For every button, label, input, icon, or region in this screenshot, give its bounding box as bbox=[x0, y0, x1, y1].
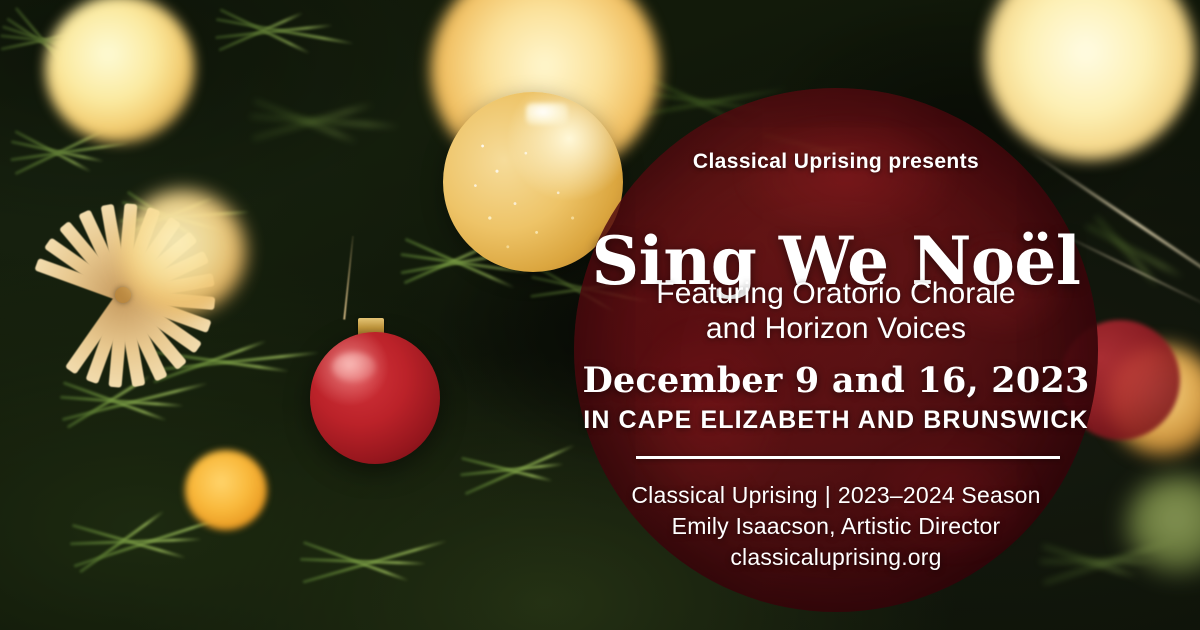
poster-content: Classical Uprising presents Sing We Noël… bbox=[574, 88, 1098, 612]
footer-org-season: Classical Uprising|2023–2024 Season bbox=[574, 480, 1098, 511]
footer-season: 2023–2024 Season bbox=[838, 482, 1041, 508]
footer-director: Emily Isaacson, Artistic Director bbox=[574, 511, 1098, 542]
bokeh-light-topleft bbox=[45, 0, 195, 143]
bokeh-light-left-mid bbox=[120, 190, 246, 314]
red-ornament-highlight bbox=[332, 352, 376, 382]
amber-bokeh-ornament bbox=[185, 450, 267, 530]
red-ornament bbox=[310, 332, 440, 464]
footer-separator: | bbox=[818, 482, 838, 508]
presenter-line: Classical Uprising presents bbox=[574, 150, 1098, 174]
featuring-line-2: and Horizon Voices bbox=[574, 311, 1098, 346]
promotional-poster: Classical Uprising presents Sing We Noël… bbox=[0, 0, 1200, 630]
featuring-lines: Featuring Oratorio Chorale and Horizon V… bbox=[574, 276, 1098, 347]
footer-organization: Classical Uprising bbox=[631, 482, 817, 508]
featuring-line-1: Featuring Oratorio Chorale bbox=[574, 276, 1098, 311]
event-locations: IN CAPE ELIZABETH AND BRUNSWICK bbox=[574, 406, 1098, 435]
footer-website[interactable]: classicaluprising.org bbox=[574, 542, 1098, 573]
event-date: December 9 and 16, 2023 bbox=[574, 360, 1098, 401]
divider bbox=[636, 456, 1060, 459]
footer-block: Classical Uprising|2023–2024 Season Emil… bbox=[574, 480, 1098, 573]
